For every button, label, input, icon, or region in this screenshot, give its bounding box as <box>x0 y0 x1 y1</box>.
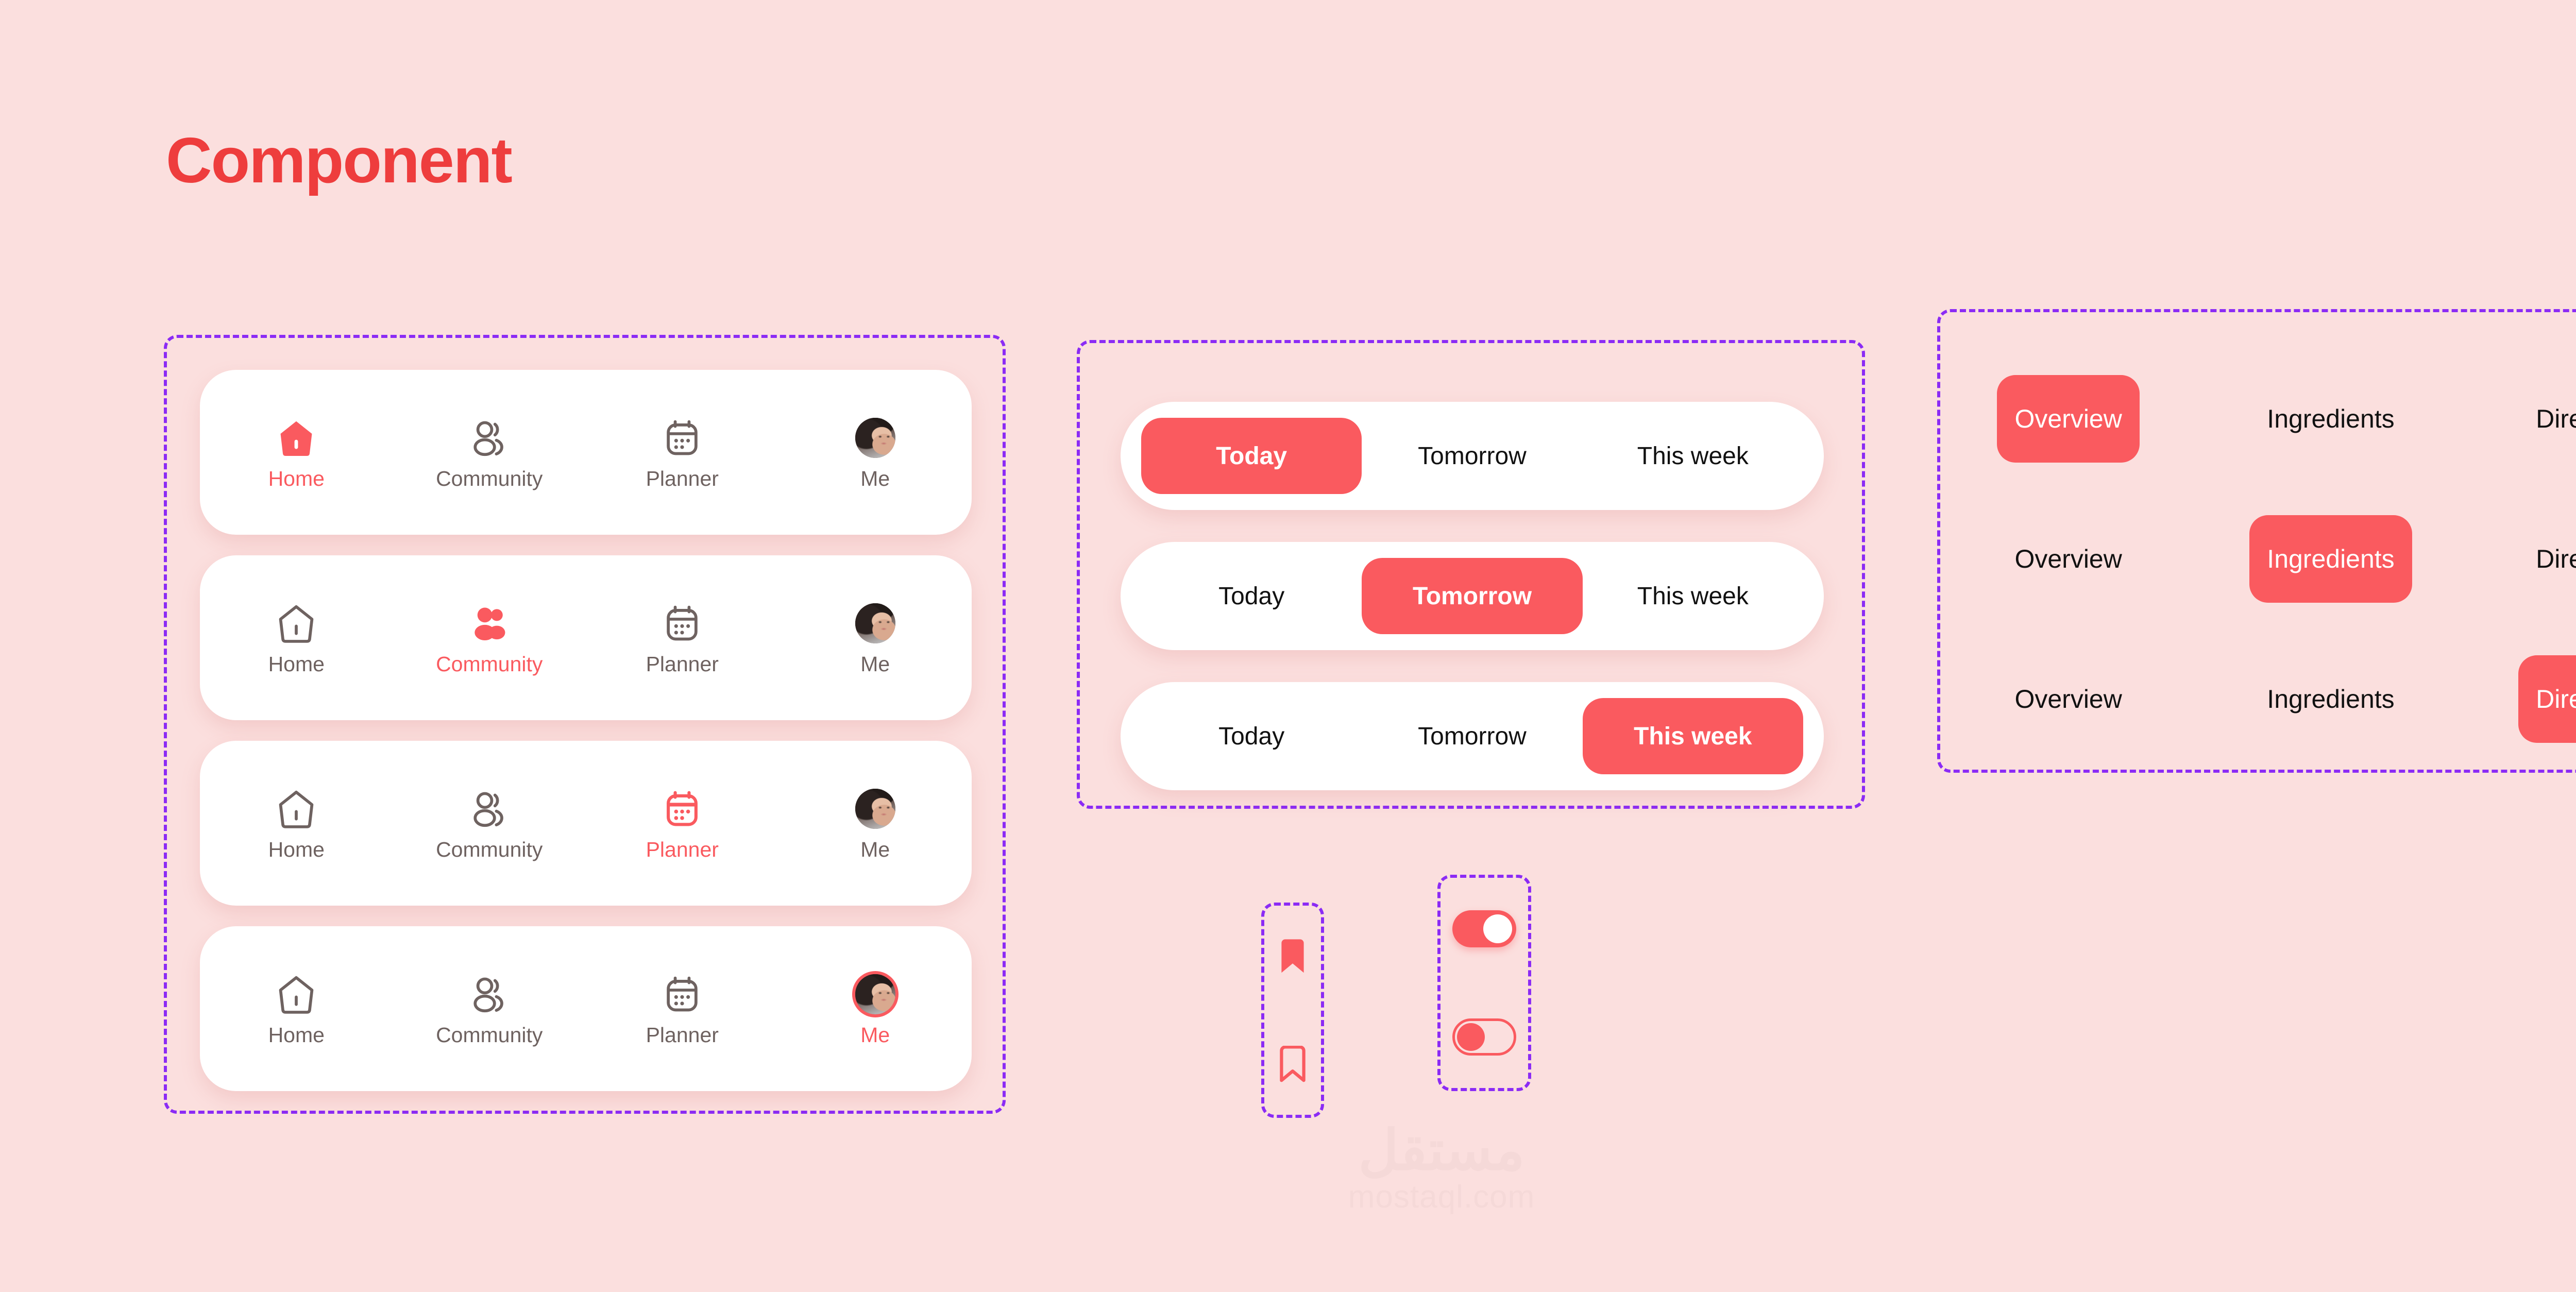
avatar <box>855 789 895 829</box>
nav-label: Home <box>268 839 325 860</box>
tab-bar: Overview Ingredients Directions <box>1937 372 2576 465</box>
nav-item-planner[interactable]: Planner <box>586 555 779 720</box>
tab-directions[interactable]: Directions <box>2462 375 2576 463</box>
nav-label: Community <box>436 468 543 489</box>
avatar-icon <box>853 416 897 460</box>
tab-cell: Overview <box>1937 655 2199 743</box>
tab-cell: Ingredients <box>2199 515 2462 603</box>
nav-label: Planner <box>646 839 719 860</box>
avatar <box>855 418 895 458</box>
toggle-knob <box>1483 914 1512 943</box>
avatar-icon <box>853 972 897 1016</box>
nav-label: Community <box>436 1025 543 1046</box>
segment-today[interactable]: Today <box>1141 558 1362 634</box>
tab-bar: Overview Ingredients Directions <box>1937 513 2576 605</box>
nav-item-home[interactable]: Home <box>200 370 393 535</box>
tab-cell: Directions <box>2462 515 2576 603</box>
tab-directions[interactable]: Directions <box>2462 515 2576 603</box>
nav-label: Me <box>860 654 890 675</box>
community-icon <box>467 416 512 460</box>
community-icon <box>467 787 512 831</box>
tab-ingredients[interactable]: Ingredients <box>2249 515 2412 603</box>
nav-item-home[interactable]: Home <box>200 555 393 720</box>
nav-item-me[interactable]: Me <box>779 741 972 906</box>
home-icon <box>274 972 318 1016</box>
segmented-control: Today Tomorrow This week <box>1121 682 1824 790</box>
nav-label: Home <box>268 654 325 675</box>
tab-cell: Overview <box>1937 375 2199 463</box>
nav-label: Planner <box>646 654 719 675</box>
tab-bar: Overview Ingredients Directions <box>1937 653 2576 745</box>
nav-label: Me <box>860 839 890 860</box>
home-icon <box>274 787 318 831</box>
nav-item-planner[interactable]: Planner <box>586 370 779 535</box>
tab-ingredients[interactable]: Ingredients <box>2199 375 2462 463</box>
calendar-icon <box>660 787 704 831</box>
tab-overview[interactable]: Overview <box>1937 515 2199 603</box>
calendar-icon <box>660 416 704 460</box>
segment-this-week[interactable]: This week <box>1583 558 1803 634</box>
tab-cell: Ingredients <box>2199 655 2462 743</box>
avatar <box>855 603 895 643</box>
bookmark-group <box>1261 903 1324 1118</box>
watermark-arabic: مستقل <box>1358 1121 1524 1179</box>
nav-label: Me <box>860 468 890 489</box>
bottom-navbar: Home Community Planner Me <box>200 926 972 1091</box>
nav-item-me[interactable]: Me <box>779 926 972 1091</box>
page-title: Component <box>166 129 512 193</box>
bottom-navbar: Home Community P <box>200 555 972 720</box>
tab-cell: Directions <box>2462 655 2576 743</box>
bookmark-filled-icon[interactable] <box>1277 938 1309 975</box>
tab-cell: Directions <box>2462 375 2576 463</box>
segment-tomorrow[interactable]: Tomorrow <box>1362 698 1582 774</box>
avatar-icon <box>853 787 897 831</box>
calendar-icon <box>660 972 704 1016</box>
segmented-control: Today Tomorrow This week <box>1121 402 1824 510</box>
bottom-navbar: Home Community Planner Me <box>200 741 972 906</box>
segment-tomorrow[interactable]: Tomorrow <box>1362 558 1582 634</box>
community-icon <box>467 972 512 1016</box>
nav-label: Home <box>268 1025 325 1046</box>
tab-cell: Overview <box>1937 515 2199 603</box>
nav-item-me[interactable]: Me <box>779 555 972 720</box>
segment-today[interactable]: Today <box>1141 698 1362 774</box>
nav-label: Community <box>436 839 543 860</box>
home-icon <box>274 416 318 460</box>
nav-item-home[interactable]: Home <box>200 741 393 906</box>
nav-item-community[interactable]: Community <box>393 926 586 1091</box>
nav-label: Home <box>268 468 325 489</box>
avatar-icon <box>853 601 897 645</box>
bottom-navbar: Home Community Planner Me <box>200 370 972 535</box>
segment-this-week[interactable]: This week <box>1583 418 1803 494</box>
tab-overview[interactable]: Overview <box>1937 655 2199 743</box>
nav-item-planner[interactable]: Planner <box>586 926 779 1091</box>
component-sheet: Component Home Community <box>0 0 2576 1292</box>
bookmark-outline-icon[interactable] <box>1277 1046 1309 1083</box>
segment-today[interactable]: Today <box>1141 418 1362 494</box>
toggle-on-icon[interactable] <box>1452 910 1516 947</box>
toggle-group <box>1437 875 1531 1091</box>
calendar-icon <box>660 601 704 645</box>
nav-label: Planner <box>646 468 719 489</box>
nav-item-community[interactable]: Community <box>393 370 586 535</box>
tab-cell: Ingredients <box>2199 375 2462 463</box>
watermark: مستقل mostaql.com <box>1266 1121 1617 1213</box>
segmented-control: Today Tomorrow This week <box>1121 542 1824 650</box>
nav-item-home[interactable]: Home <box>200 926 393 1091</box>
tab-directions[interactable]: Directions <box>2518 655 2576 743</box>
nav-label: Me <box>860 1025 890 1046</box>
nav-label: Community <box>436 654 543 675</box>
nav-label: Planner <box>646 1025 719 1046</box>
community-icon <box>467 601 512 645</box>
tab-ingredients[interactable]: Ingredients <box>2199 655 2462 743</box>
segment-tomorrow[interactable]: Tomorrow <box>1362 418 1582 494</box>
avatar <box>855 974 895 1014</box>
toggle-knob <box>1457 1023 1485 1051</box>
nav-item-community[interactable]: Community <box>393 741 586 906</box>
watermark-latin: mostaql.com <box>1348 1181 1535 1213</box>
nav-item-community[interactable]: Community <box>393 555 586 720</box>
nav-item-me[interactable]: Me <box>779 370 972 535</box>
home-icon <box>274 601 318 645</box>
tab-overview[interactable]: Overview <box>1997 375 2139 463</box>
toggle-off-icon[interactable] <box>1452 1018 1516 1056</box>
segment-this-week[interactable]: This week <box>1583 698 1803 774</box>
nav-item-planner[interactable]: Planner <box>586 741 779 906</box>
